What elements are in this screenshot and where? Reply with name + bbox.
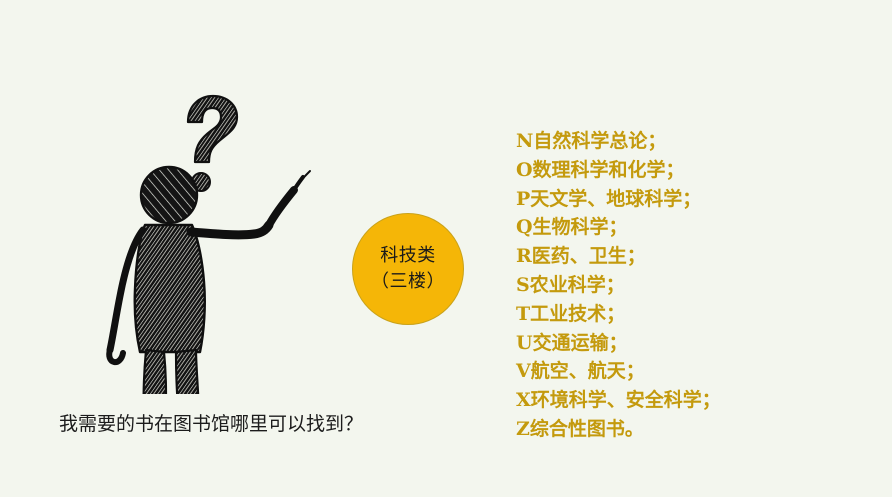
classification-item-r: R医药、卫生； <box>516 242 721 271</box>
classification-list: N自然科学总论； O数理科学和化学； P天文学、地球科学； Q生物科学； R医药… <box>516 127 721 444</box>
classification-item-v: V航空、航天； <box>516 357 721 386</box>
figure-head <box>141 167 197 223</box>
figure-legs <box>144 350 202 394</box>
category-circle: 科技类 （三楼） <box>352 213 464 325</box>
figure-torso <box>135 225 205 352</box>
slide-canvas: 科技类 （三楼） N自然科学总论； O数理科学和化学； P天文学、地球科学； Q… <box>0 0 892 497</box>
sketch-figure-illustration <box>96 84 326 394</box>
category-circle-line2: （三楼） <box>371 269 445 295</box>
classification-item-p: P天文学、地球科学； <box>516 185 721 214</box>
classification-item-t: T工业技术； <box>516 300 721 329</box>
caption-text: 我需要的书在图书馆哪里可以找到？ <box>59 411 363 437</box>
category-circle-line1: 科技类 <box>380 243 436 269</box>
classification-item-n: N自然科学总论； <box>516 127 721 156</box>
classification-item-z: Z综合性图书。 <box>516 415 721 444</box>
question-mark-icon <box>188 96 237 191</box>
classification-item-x: X环境科学、安全科学； <box>516 386 721 415</box>
stick-figure-svg <box>96 84 326 394</box>
classification-item-s: S农业科学； <box>516 271 721 300</box>
classification-item-o: O数理科学和化学； <box>516 156 721 185</box>
classification-item-u: U交通运输； <box>516 329 721 358</box>
classification-item-q: Q生物科学； <box>516 213 721 242</box>
